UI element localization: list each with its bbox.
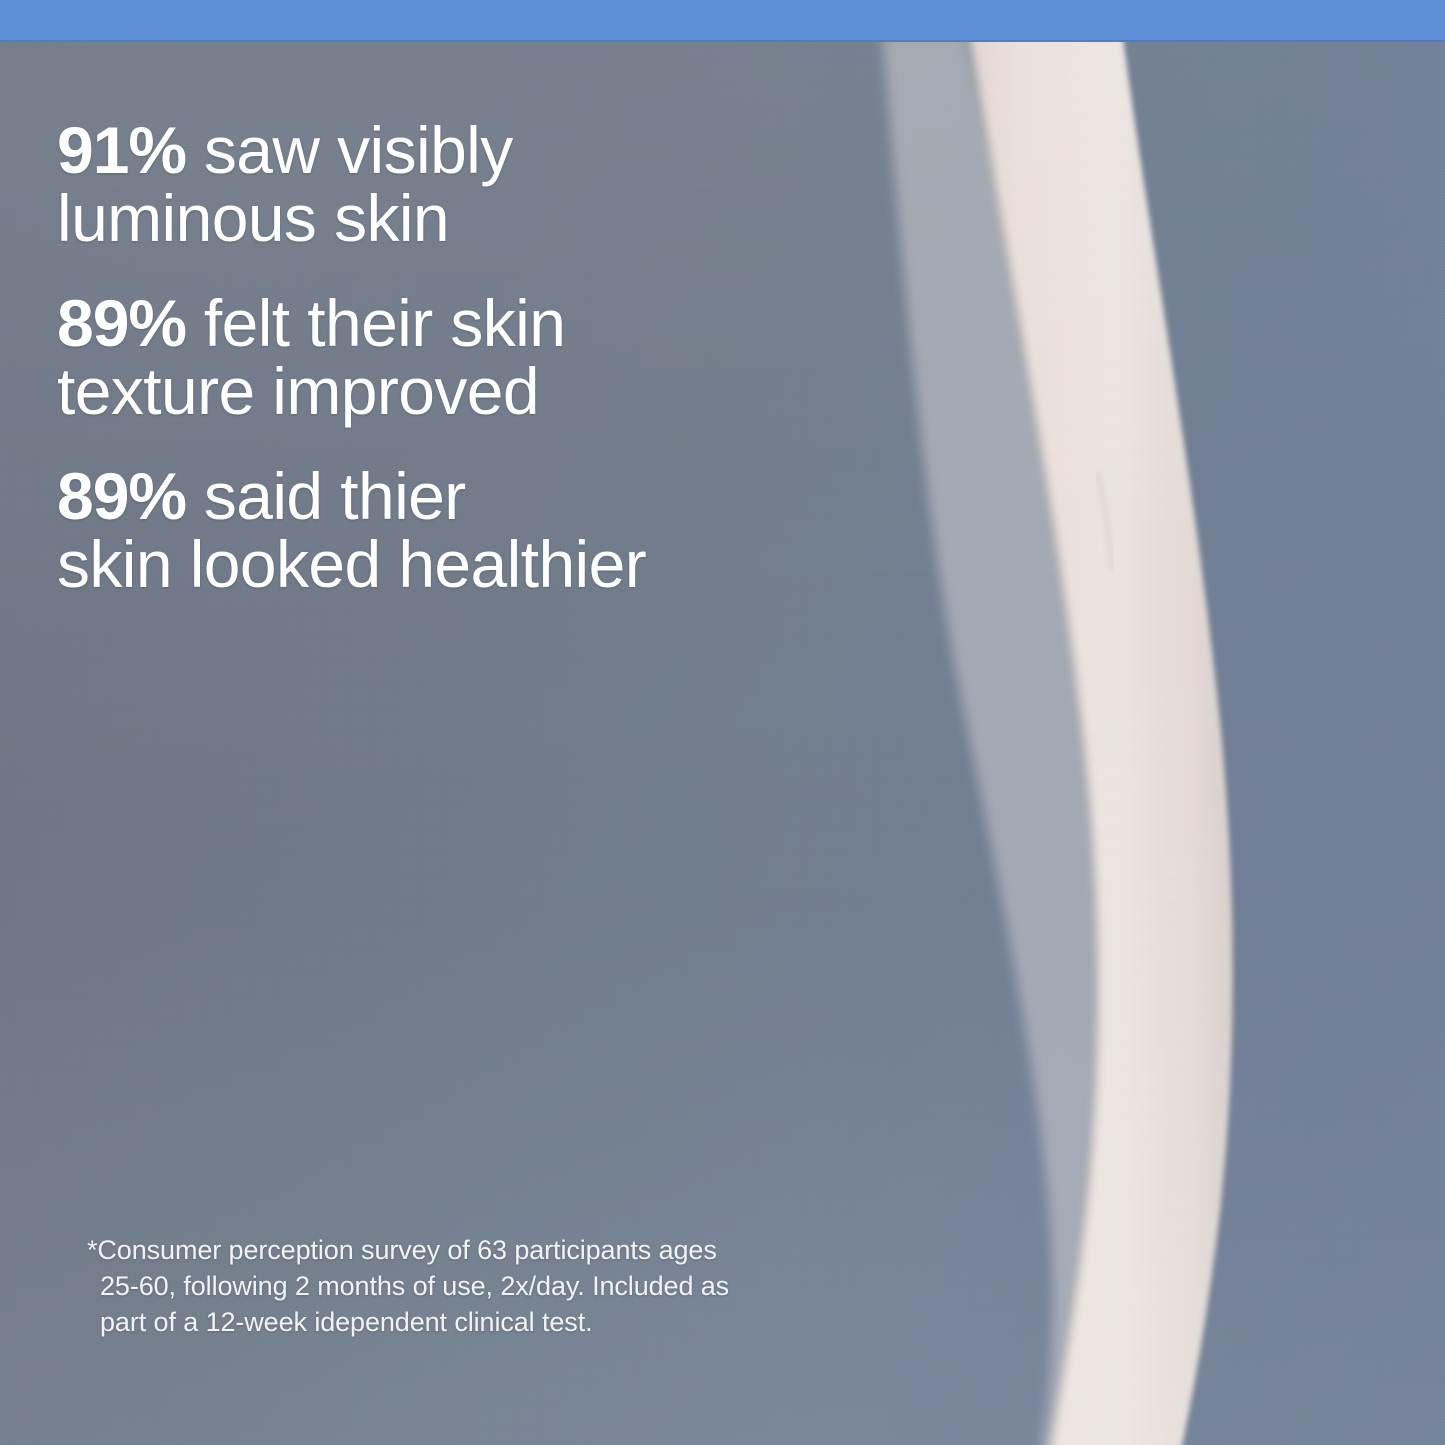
claim-item: 89% said thier skin looked healthier — [57, 462, 917, 598]
footnote-line-2: 25-60, following 2 months of use, 2x/day… — [87, 1268, 877, 1304]
claim-item: 91% saw visibly luminous skin — [57, 116, 917, 252]
footnote-line-3: part of a 12-week idependent clinical te… — [87, 1304, 877, 1340]
product-claims-graphic: 91% saw visibly luminous skin 89% felt t… — [0, 0, 1445, 1445]
top-accent-bar — [0, 0, 1445, 42]
claim-item: 89% felt their skin texture improved — [57, 289, 917, 425]
footnote-line-1: *Consumer perception survey of 63 partic… — [87, 1232, 877, 1268]
study-footnote: *Consumer perception survey of 63 partic… — [87, 1232, 877, 1340]
claim-percent: 89% — [57, 286, 186, 360]
claim-percent: 89% — [57, 459, 186, 533]
claim-percent: 91% — [57, 113, 186, 187]
claims-list: 91% saw visibly luminous skin 89% felt t… — [57, 116, 917, 598]
